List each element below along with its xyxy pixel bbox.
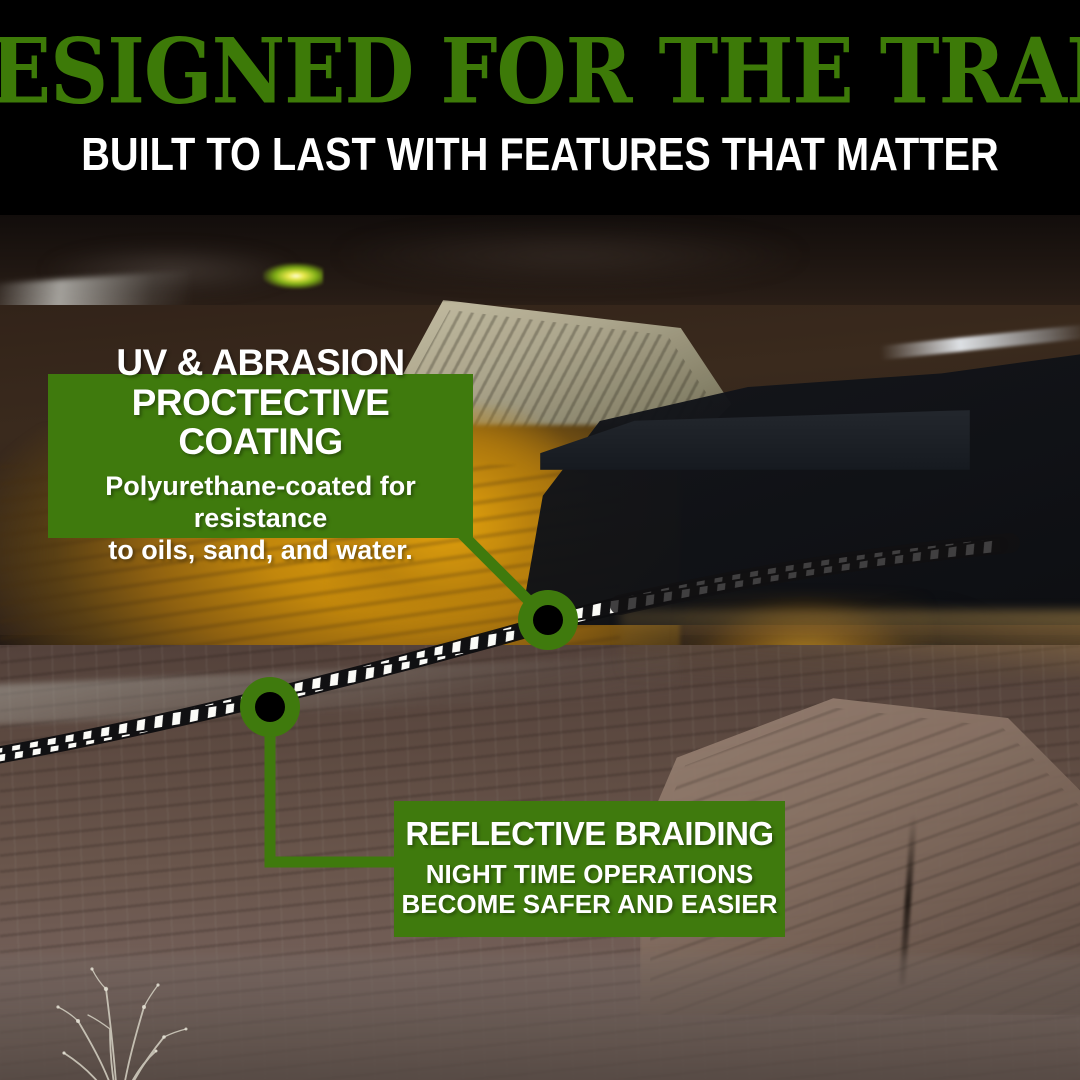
callout-reflective-braiding-title: REFLECTIVE BRAIDING [405,817,773,852]
callout-uv-abrasion-title-line2: PROCTECTIVE COATING [54,383,467,461]
infographic-page: UV & ABRASION PROCTECTIVE COATING Polyur… [0,0,1080,1080]
callout-reflective-braiding-body-line2: BECOME SAFER AND EASIER [401,890,777,919]
hotspot-dot-coating-center [533,605,563,635]
callout-uv-abrasion-title-line1: UV & ABRASION [54,343,467,382]
hotspot-dot-braiding[interactable] [240,677,300,737]
callout-reflective-braiding-body: NIGHT TIME OPERATIONS BECOME SAFER AND E… [401,860,777,919]
callout-uv-abrasion-body: Polyurethane-coated for resistance to oi… [54,471,467,567]
hotspot-dot-braiding-center [255,692,285,722]
callout-reflective-braiding-title-line1: REFLECTIVE BRAIDING [405,817,773,852]
callout-uv-abrasion-body-line2: to oils, sand, and water. [54,535,467,567]
callout-uv-abrasion-body-line1: Polyurethane-coated for resistance [54,471,467,535]
callout-reflective-braiding-body-line1: NIGHT TIME OPERATIONS [401,860,777,889]
hotspot-dot-coating[interactable] [518,590,578,650]
callout-reflective-braiding[interactable]: REFLECTIVE BRAIDING NIGHT TIME OPERATION… [394,801,785,937]
callout-uv-abrasion-title: UV & ABRASION PROCTECTIVE COATING [54,343,467,461]
callout-uv-abrasion[interactable]: UV & ABRASION PROCTECTIVE COATING Polyur… [48,374,473,538]
